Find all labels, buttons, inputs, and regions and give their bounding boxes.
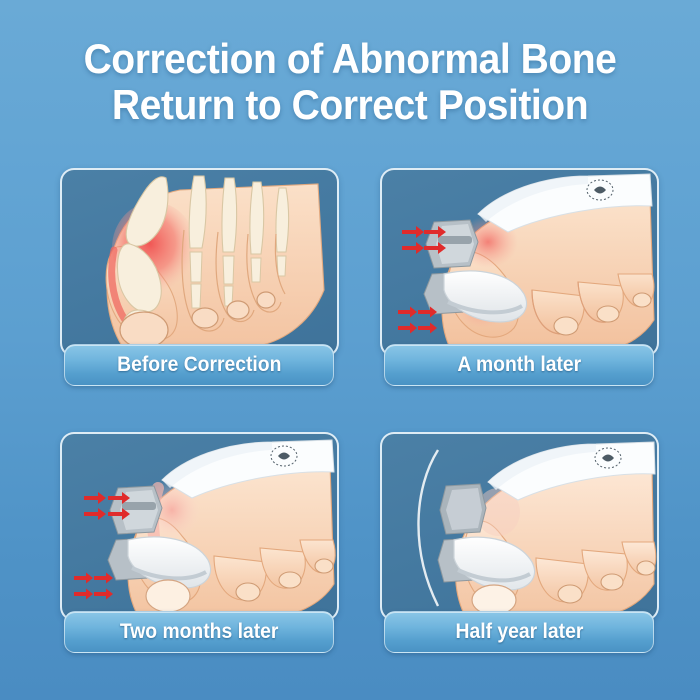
illustration-foot-splint-two-months (62, 434, 337, 619)
title-line-1: Correction of Abnormal Bone (84, 35, 617, 82)
pressure-arrows-lower (74, 573, 113, 600)
pressure-arrows-lower (398, 307, 437, 334)
caption-label: Two months later (120, 620, 279, 644)
illustration-foot-bunion-bones (62, 170, 337, 355)
caption-label: Before Correction (117, 353, 281, 377)
caption-half-year-later: Half year later (384, 611, 654, 653)
panel-half-year-later (380, 432, 659, 621)
caption-label: A month later (457, 353, 581, 377)
panel-a-month-later (380, 168, 659, 357)
illustration-foot-splint-half-year (382, 434, 657, 619)
panel-two-months-later (60, 432, 339, 621)
caption-a-month-later: A month later (384, 344, 654, 386)
caption-label: Half year later (455, 620, 583, 644)
illustration-foot-splint-month (382, 170, 657, 355)
infographic-root: Correction of Abnormal Bone Return to Co… (0, 0, 700, 700)
caption-before-correction: Before Correction (64, 344, 334, 386)
caption-two-months-later: Two months later (64, 611, 334, 653)
page-title: Correction of Abnormal Bone Return to Co… (25, 36, 676, 128)
title-line-2: Return to Correct Position (25, 82, 676, 128)
panel-before-correction (60, 168, 339, 357)
